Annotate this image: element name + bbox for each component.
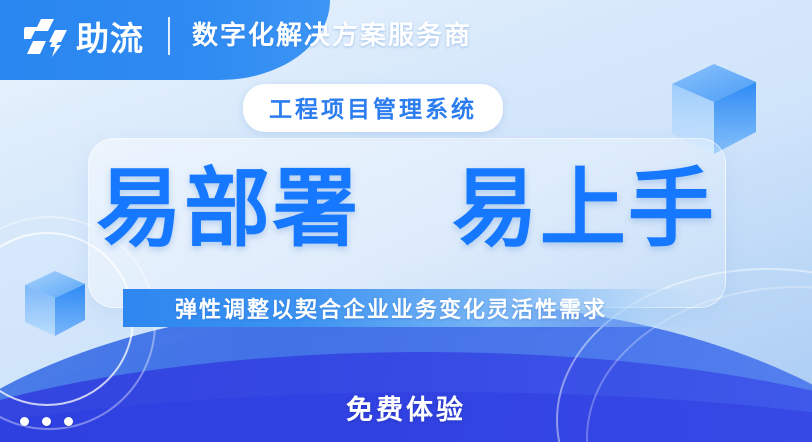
page-title: 易部署 易上手 [0,166,812,252]
promo-banner: 助流 数字化解决方案服务商 工程项目管理系统 易部署 易上手 弹性调整以契合企业… [0,0,812,442]
carousel-dot-3[interactable] [64,417,73,426]
carousel-indicators [20,417,73,426]
headline-part-2: 易上手 [452,161,716,257]
subtitle-text: 弹性调整以契合企业业务变化灵活性需求 [175,292,607,324]
carousel-dot-1[interactable] [20,417,29,426]
product-badge: 工程项目管理系统 [243,84,503,132]
carousel-dot-2[interactable] [42,417,51,426]
zhuliu-lightning-logo-icon [24,17,68,59]
brand-divider [168,17,170,55]
free-trial-button[interactable]: 免费体验 [0,388,812,427]
hexagon-cube-icon [22,268,88,345]
brand-name: 助流 [76,22,144,55]
headline-part-1: 易部署 [96,161,360,257]
brand-tagline: 数字化解决方案服务商 [192,20,472,51]
brand-logo-group[interactable]: 助流 [24,10,144,66]
subtitle-band: 弹性调整以契合企业业务变化灵活性需求 [123,289,703,327]
